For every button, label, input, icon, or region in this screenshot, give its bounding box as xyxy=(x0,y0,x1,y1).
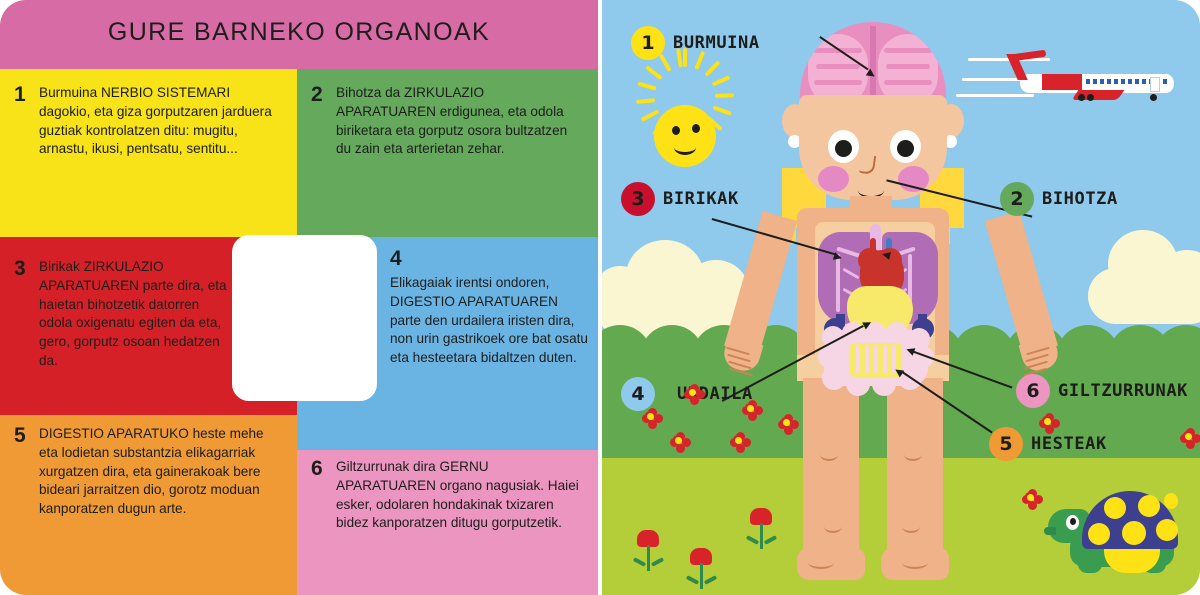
list-item: 5 DIGESTIO APARATUKO heste mehe eta lodi… xyxy=(14,425,284,519)
badge-3: 3 xyxy=(621,182,655,216)
list-item: 2 Bihotza da ZIRKULAZIO APARATUAREN erdi… xyxy=(311,84,581,159)
label-bihotza[interactable]: 2 BIHOTZA xyxy=(1000,182,1118,216)
item-text: Elikagaiak irentsi ondoren, DIGESTIO APA… xyxy=(390,274,590,368)
label-text: BURMUINA xyxy=(673,33,760,53)
item-number: 3 xyxy=(14,258,30,371)
item-number: 5 xyxy=(14,425,30,519)
item-text: Giltzurrunak dira GERNU APARATUAREN orga… xyxy=(336,458,581,533)
turtle-icon xyxy=(1042,487,1182,583)
item-text: Birikak ZIRKULAZIO APARATUAREN parte dir… xyxy=(39,258,229,371)
page-title: GURE BARNEKO ORGANOAK xyxy=(0,18,598,47)
badge-6: 6 xyxy=(1016,374,1050,408)
item-text: DIGESTIO APARATUKO heste mehe eta lodiet… xyxy=(39,425,284,519)
blank-white-card xyxy=(232,235,377,401)
label-text: GILTZURRUNAK xyxy=(1058,381,1188,401)
label-birikak[interactable]: 3 BIRIKAK xyxy=(621,182,739,216)
item-number: 1 xyxy=(14,84,30,159)
item-number: 2 xyxy=(311,84,327,159)
label-giltzurrunak[interactable]: 6 GILTZURRUNAK xyxy=(1016,374,1188,408)
brain-organ xyxy=(800,22,946,105)
list-item: 6 Giltzurrunak dira GERNU APARATUAREN or… xyxy=(311,458,581,533)
list-item: 4 Elikagaiak irentsi ondoren, DIGESTIO A… xyxy=(390,248,590,368)
item-number: 6 xyxy=(311,458,327,533)
airplane-icon xyxy=(990,52,1175,108)
list-item: 1 Burmuina NERBIO SISTEMARI dagokio, eta… xyxy=(14,84,279,159)
label-burmuina[interactable]: 1 BURMUINA xyxy=(631,26,760,60)
left-page: GURE BARNEKO ORGANOAK 1 Burmuina NERBIO … xyxy=(0,0,598,595)
label-text: BIHOTZA xyxy=(1042,189,1118,209)
badge-5: 5 xyxy=(989,427,1023,461)
badge-1: 1 xyxy=(631,26,665,60)
right-page-illustration: 1 BURMUINA 3 BIRIKAK 2 BIHOTZA 4 URDAILA… xyxy=(602,0,1200,595)
book-spread: GURE BARNEKO ORGANOAK 1 Burmuina NERBIO … xyxy=(0,0,1200,595)
label-text: HESTEAK xyxy=(1031,434,1107,454)
item-text: Bihotza da ZIRKULAZIO APARATUAREN erdigu… xyxy=(336,84,581,159)
item-number: 4 xyxy=(390,248,590,270)
badge-4: 4 xyxy=(621,377,655,411)
badge-2: 2 xyxy=(1000,182,1034,216)
item-text: Burmuina NERBIO SISTEMARI dagokio, eta g… xyxy=(39,84,279,159)
label-text: BIRIKAK xyxy=(663,189,739,209)
list-item: 3 Birikak ZIRKULAZIO APARATUAREN parte d… xyxy=(14,258,229,371)
page-header: GURE BARNEKO ORGANOAK xyxy=(0,0,598,69)
